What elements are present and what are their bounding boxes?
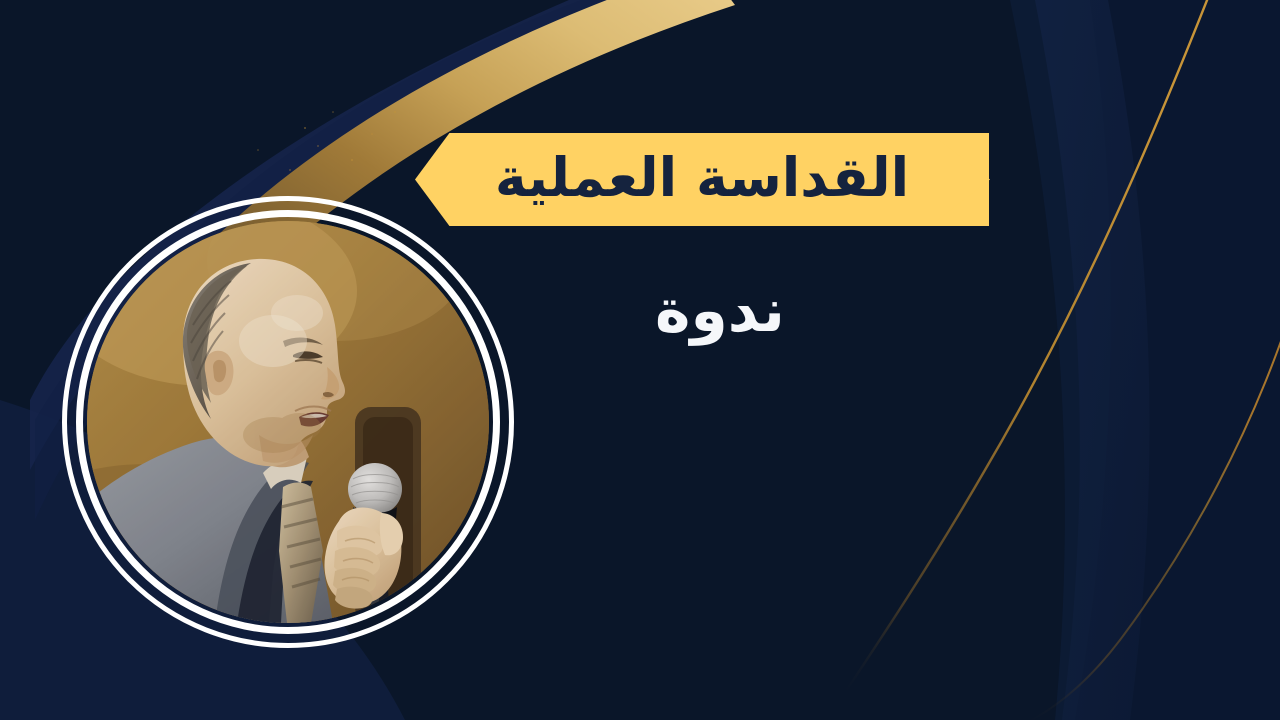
portrait-photo — [87, 221, 489, 623]
sparkle-dots — [257, 111, 396, 171]
navy-panel-right-outer — [1010, 0, 1280, 720]
navy-panel-right-mid — [1035, 0, 1150, 720]
presentation-slide: القداسة العملية ندوة — [0, 0, 1280, 720]
gold-thin-curve-upper — [840, 0, 1215, 700]
portrait-photo-clip — [87, 221, 489, 623]
gold-thin-curve-lower — [1020, 330, 1280, 720]
slide-subtitle: ندوة — [520, 278, 920, 344]
navy-panel-right-inner — [1075, 0, 1280, 720]
speaker-portrait — [62, 196, 514, 648]
slide-title: القداسة العملية — [415, 133, 989, 226]
